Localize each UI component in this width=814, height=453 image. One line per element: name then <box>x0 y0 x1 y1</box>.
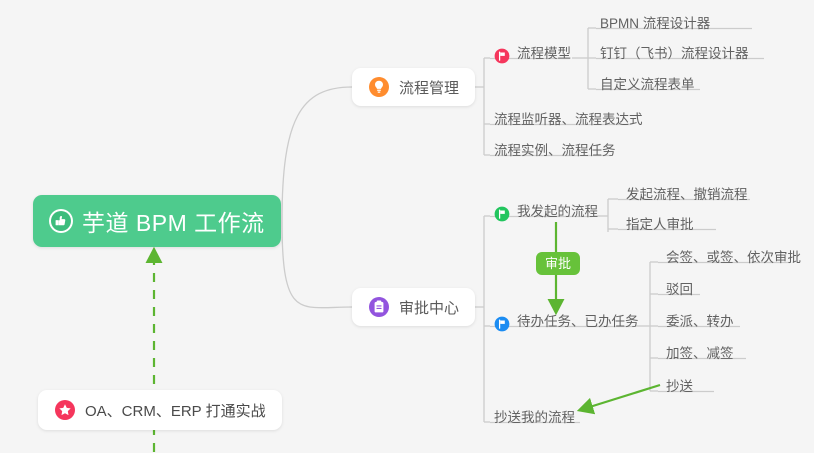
leaf-start-cancel-process[interactable]: 发起流程、撤销流程 <box>626 179 748 205</box>
mindmap-canvas: 芋道 BPM 工作流 流程管理 流程模型 BPMN 流程设计器 钉钉（飞书）流程 <box>0 0 814 453</box>
leaf-custom-form[interactable]: 自定义流程表单 <box>600 69 695 95</box>
leaf-dingtalk-designer[interactable]: 钉钉（飞书）流程设计器 <box>600 38 749 64</box>
branch-label: 流程管理 <box>399 77 459 98</box>
node-process-instance[interactable]: 流程实例、流程任务 <box>494 135 616 161</box>
branch-label: 审批中心 <box>399 297 459 318</box>
approval-badge: 审批 <box>536 252 580 275</box>
leaf-label: 加签、减签 <box>666 344 734 364</box>
clipboard-icon <box>368 296 390 318</box>
node-todo-done-task[interactable]: 待办任务、已办任务 <box>494 306 639 332</box>
bottom-note-node[interactable]: OA、CRM、ERP 打通实战 <box>38 390 282 430</box>
leaf-label: 指定人审批 <box>626 215 694 235</box>
node-process-model[interactable]: 流程模型 <box>494 38 571 64</box>
leaf-assignee-approval[interactable]: 指定人审批 <box>626 209 694 235</box>
leaf-reject[interactable]: 驳回 <box>666 274 693 300</box>
node-label: 流程模型 <box>517 44 571 64</box>
leaf-label: 驳回 <box>666 280 693 300</box>
leaf-label: 会签、或签、依次审批 <box>666 248 801 268</box>
branch-node-process-management[interactable]: 流程管理 <box>352 68 475 106</box>
leaf-label: 委派、转办 <box>666 312 734 332</box>
leaf-delegate-transfer[interactable]: 委派、转办 <box>666 306 734 332</box>
star-icon <box>54 399 76 421</box>
node-process-listener[interactable]: 流程监听器、流程表达式 <box>494 104 643 130</box>
leaf-carbon-copy[interactable]: 抄送 <box>666 371 693 397</box>
root-label: 芋道 BPM 工作流 <box>82 204 265 238</box>
root-node[interactable]: 芋道 BPM 工作流 <box>33 195 281 247</box>
node-label: 抄送我的流程 <box>494 408 575 428</box>
node-label: 流程实例、流程任务 <box>494 141 616 161</box>
leaf-label: BPMN 流程设计器 <box>600 14 710 34</box>
leaf-add-remove-sign[interactable]: 加签、减签 <box>666 338 734 364</box>
node-cc-my-process[interactable]: 抄送我的流程 <box>494 402 575 428</box>
node-label: 我发起的流程 <box>517 202 598 222</box>
leaf-label: 发起流程、撤销流程 <box>626 185 748 205</box>
leaf-label: 钉钉（飞书）流程设计器 <box>600 44 749 64</box>
node-label: 流程监听器、流程表达式 <box>494 110 643 130</box>
leaf-label: 自定义流程表单 <box>600 75 695 95</box>
node-my-started-process[interactable]: 我发起的流程 <box>494 196 598 222</box>
branch-node-approval-center[interactable]: 审批中心 <box>352 288 475 326</box>
leaf-label: 抄送 <box>666 377 693 397</box>
leaf-countersign[interactable]: 会签、或签、依次审批 <box>666 242 801 268</box>
flag-icon <box>494 316 510 332</box>
lightbulb-icon <box>368 76 390 98</box>
leaf-bpmn-designer[interactable]: BPMN 流程设计器 <box>600 8 710 34</box>
flag-icon <box>494 206 510 222</box>
thumbs-up-icon <box>49 209 73 233</box>
flag-icon <box>494 48 510 64</box>
node-label: 待办任务、已办任务 <box>517 312 639 332</box>
bottom-note-label: OA、CRM、ERP 打通实战 <box>85 400 266 421</box>
